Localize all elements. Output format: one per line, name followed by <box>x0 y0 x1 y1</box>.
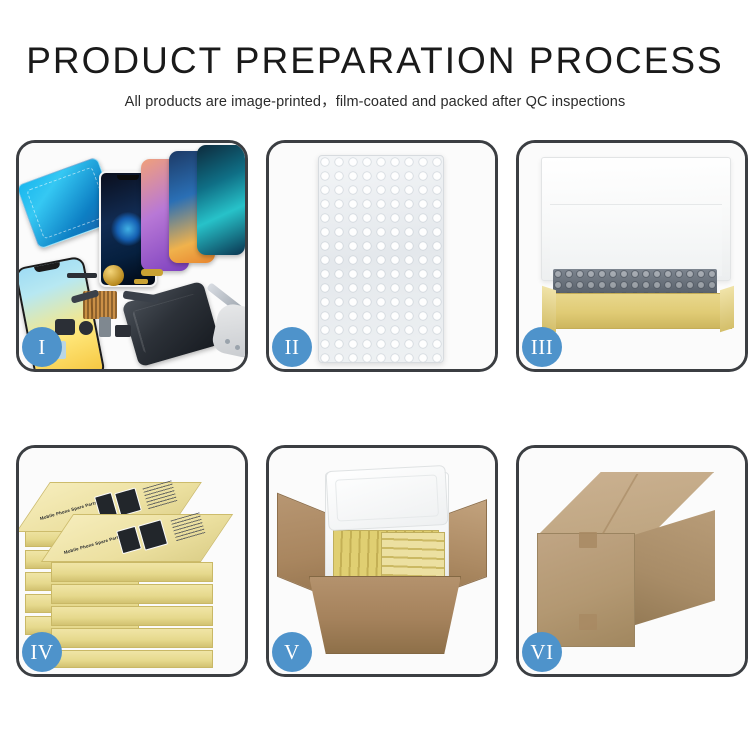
small-component-icon <box>115 325 131 337</box>
screw-icon <box>235 345 240 350</box>
box-slab <box>51 606 213 626</box>
gold-contact-icon <box>134 279 148 284</box>
page-header: PRODUCT PREPARATION PROCESS All products… <box>0 38 750 112</box>
camera-module-icon <box>55 319 75 335</box>
process-step-grid: I II III <box>16 140 750 685</box>
box-slab <box>51 562 213 582</box>
sim-tray-icon <box>99 317 111 337</box>
step-badge-3: III <box>522 327 562 367</box>
box-slab <box>51 628 213 648</box>
process-step-panel-5[interactable]: V <box>266 445 498 677</box>
bubble-wrap-bag-icon <box>318 155 444 363</box>
foam-sheet-icon <box>541 157 731 281</box>
technician-hand-icon <box>210 301 245 358</box>
process-step-panel-4[interactable]: Mobile Phone Spare Parts Mobile Phone Sp… <box>16 445 248 677</box>
screw-icon <box>225 339 230 344</box>
step-badge-4: IV <box>22 632 62 672</box>
gold-flex-connector-icon <box>141 269 163 276</box>
carton-tape-flap-icon <box>579 532 597 548</box>
vibration-motor-icon <box>103 265 124 286</box>
carton-body-icon <box>309 576 461 654</box>
speaker-round-icon <box>79 321 93 335</box>
foam-box-lid-icon <box>326 465 449 531</box>
process-step-panel-1[interactable]: I <box>16 140 248 372</box>
earpiece-speaker-icon <box>67 273 97 278</box>
process-step-panel-6[interactable]: VI <box>516 445 748 677</box>
page-subtitle: All products are image-printed，film-coat… <box>0 93 750 112</box>
phone-teal-icon <box>197 145 245 255</box>
yellow-boxes-stack-icon <box>381 532 445 582</box>
process-step-panel-3[interactable]: III <box>516 140 748 372</box>
page-title: PRODUCT PREPARATION PROCESS <box>0 38 750 84</box>
step-badge-5: V <box>272 632 312 672</box>
box-stack: Mobile Phone Spare Parts Mobile Phone Sp… <box>23 466 245 662</box>
product-preparation-page: PRODUCT PREPARATION PROCESS All products… <box>0 0 750 750</box>
kraft-tray-icon <box>544 293 732 329</box>
step-badge-6: VI <box>522 632 562 672</box>
process-step-panel-2[interactable]: II <box>266 140 498 372</box>
box-slab <box>51 650 213 668</box>
step-badge-1: I <box>22 327 62 367</box>
step-badge-2: II <box>272 327 312 367</box>
box-slab <box>51 584 213 604</box>
carton-tape-bottom-icon <box>579 614 597 630</box>
